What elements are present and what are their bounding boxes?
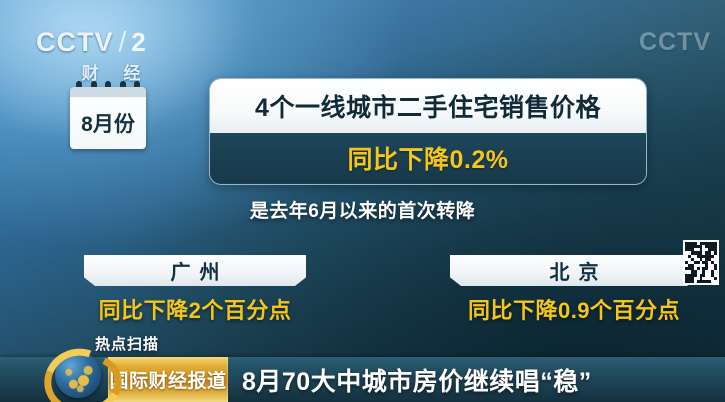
calendar-body: 8月份 — [70, 87, 146, 149]
calendar-icon: 8月份 — [70, 87, 146, 149]
ticker-headline-area: 8月70大中城市房价继续唱“稳” — [228, 357, 725, 402]
city-name-chip: 广州 — [84, 255, 306, 286]
city-value: 同比下降0.9个百分点 — [450, 293, 698, 325]
globe-logo-icon — [42, 348, 116, 400]
calendar-month-label: 8月份 — [81, 108, 135, 138]
banner-subtitle: 是去年6月以来的首次转降 — [0, 196, 725, 223]
qr-module — [714, 280, 717, 283]
city-value: 同比下降2个百分点 — [84, 293, 306, 325]
channel-logo-row: CCTV / 2 — [36, 26, 176, 58]
banner-highlight-row: 同比下降0.2% — [210, 133, 646, 183]
channel-logo: CCTV / 2 财 经 — [36, 26, 176, 78]
program-badge: 国际财经报道 — [108, 357, 228, 402]
city-name: 北京 — [541, 256, 608, 285]
city-name-chip: 北京 — [450, 255, 698, 286]
program-name: 国际财经报道 — [109, 366, 226, 393]
city-panel-beijing: 北京 同比下降0.9个百分点 — [450, 255, 698, 325]
banner-highlight: 同比下降0.2% — [348, 140, 509, 176]
city-panel-guangzhou: 广州 同比下降2个百分点 — [84, 255, 306, 325]
banner-title-row: 4个一线城市二手住宅销售价格 — [210, 79, 646, 133]
channel-logo-number: 2 — [131, 27, 145, 58]
city-name: 广州 — [162, 256, 229, 285]
broadcast-screen: CCTV / 2 财 经 CCTV 8月份 4个一线城市二手住宅销售价格 同比下… — [0, 0, 725, 402]
headline-banner: 4个一线城市二手住宅销售价格 同比下降0.2% — [209, 78, 647, 185]
qr-code-grid — [685, 242, 717, 283]
banner-title: 4个一线城市二手住宅销售价格 — [255, 88, 601, 124]
ticker-headline: 8月70大中城市房价继续唱“稳” — [242, 362, 592, 398]
channel-logo-separator: / — [119, 26, 127, 58]
qr-code-icon — [683, 240, 719, 285]
cctv-watermark: CCTV — [639, 28, 711, 57]
channel-logo-text: CCTV — [36, 27, 114, 58]
